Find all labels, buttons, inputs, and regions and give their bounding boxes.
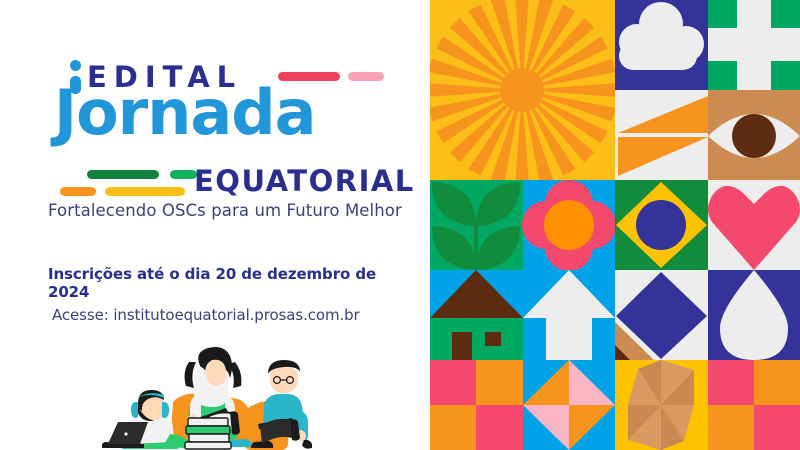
- arrow-up-tile: [523, 270, 615, 360]
- deadline-text: Inscrições até o dia 20 de dezembro de 2…: [48, 265, 408, 301]
- cloud-tile: [615, 0, 708, 90]
- pinwheel-tile: [615, 360, 708, 450]
- geometric-pattern-grid: [430, 0, 800, 450]
- accent-dash-green-dark: [87, 170, 159, 179]
- students-illustration: [78, 326, 328, 450]
- pinwheel-icon: [628, 360, 694, 450]
- pinwheel-diamond-tile: [523, 360, 615, 450]
- book-stack: [185, 418, 231, 449]
- checker-tile-left: [430, 360, 523, 450]
- checker-tile-right: [708, 360, 800, 450]
- tagline-text: Fortalecendo OSCs para um Futuro Melhor: [48, 201, 402, 220]
- door-icon: [452, 332, 472, 360]
- logo-word-equatorial: EQUATORIAL: [194, 164, 415, 198]
- logo-word-jornada: Jornada: [54, 82, 315, 144]
- access-url-text: Acesse: institutoequatorial.prosas.com.b…: [52, 306, 408, 324]
- accent-dash-pink: [348, 72, 384, 81]
- left-content-panel: EDITAL Jornada EQUATORIAL Fortalecendo O…: [0, 0, 430, 450]
- sun-icon: [430, 0, 617, 185]
- window-icon: [485, 332, 501, 346]
- diamond-circle-tile: [615, 180, 708, 270]
- leaves-tile: [430, 180, 523, 270]
- info-block: Inscrições até o dia 20 de dezembro de 2…: [48, 265, 408, 324]
- heart-tile: [708, 180, 800, 270]
- accent-dash-green: [170, 170, 197, 179]
- eye-tile: [708, 90, 800, 180]
- circle-icon: [636, 200, 686, 250]
- accent-dash-yellow: [105, 187, 185, 196]
- house-tile: [430, 270, 523, 360]
- rotated-square-tile: [615, 270, 708, 360]
- flower-tile: [522, 180, 616, 271]
- house-body: [430, 318, 523, 360]
- plus-cross-tile: [708, 0, 800, 90]
- accent-dash-orange: [60, 187, 96, 196]
- lightning-tile: [615, 90, 708, 180]
- poster-canvas: EDITAL Jornada EQUATORIAL Fortalecendo O…: [0, 0, 800, 450]
- logo-lockup: EDITAL Jornada EQUATORIAL: [42, 52, 392, 222]
- droplet-tile: [708, 270, 800, 360]
- sunburst-tile: [430, 0, 617, 185]
